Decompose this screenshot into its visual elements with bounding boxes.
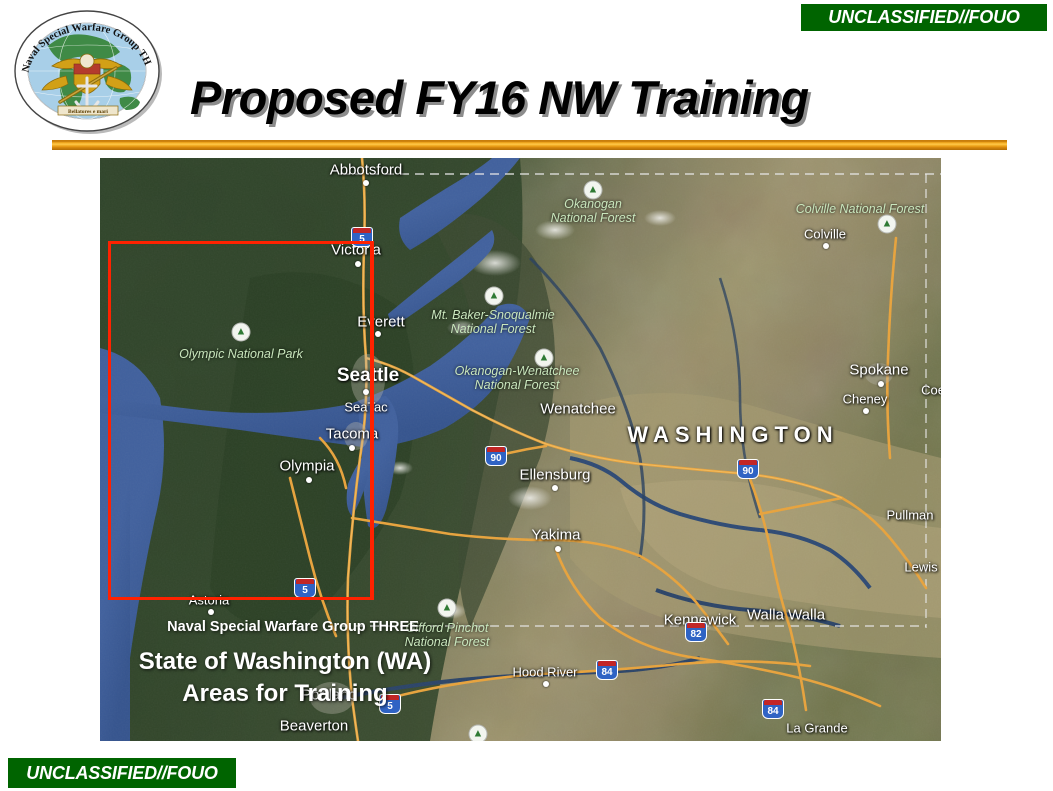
forest-pin-icon: ▲ [878, 215, 897, 234]
page-title: Proposed FY16 NW Training [190, 70, 910, 125]
forest-pin-icon: ▲ [485, 287, 504, 306]
city-dot [208, 609, 214, 615]
forest-pin-icon: ▲ [438, 599, 457, 618]
map-container[interactable]: ▲ OkanoganNational Forest ▲ Colville Nat… [100, 158, 941, 741]
highway-shield-icon: 90 [737, 459, 759, 479]
city-dot [375, 331, 381, 337]
city-dot [878, 381, 884, 387]
city-dot [823, 243, 829, 249]
highway-shield-icon: 82 [685, 622, 707, 642]
city-dot [363, 180, 369, 186]
naval-special-warfare-group-three-seal-icon: Bellatores e mari Naval Special Warfare … [8, 6, 168, 136]
svg-text:Bellatores e mari: Bellatores e mari [68, 109, 108, 115]
highway-shield-icon: 84 [596, 660, 618, 680]
classification-banner-top: UNCLASSIFIED//FOUO [801, 4, 1047, 31]
title-divider [52, 140, 1007, 150]
city-dot [863, 408, 869, 414]
area-of-interest-divider-line [371, 241, 374, 600]
map-overlay-title-line1: State of Washington (WA) [105, 648, 465, 676]
classification-banner-bottom: UNCLASSIFIED//FOUO [8, 758, 236, 788]
city-dot [543, 681, 549, 687]
forest-pin-icon: ▲ [535, 349, 554, 368]
unit-seal-logo: Bellatores e mari Naval Special Warfare … [8, 6, 168, 136]
map-overlay-unit-name: Naval Special Warfare Group THREE [143, 619, 443, 635]
city-dot [552, 485, 558, 491]
forest-pin-icon: ▲ [469, 725, 488, 742]
forest-pin-icon: ▲ [584, 181, 603, 200]
highway-shield-icon: 84 [762, 699, 784, 719]
highway-shield-icon: 90 [485, 446, 507, 466]
city-dot [555, 546, 561, 552]
area-of-interest-rectangle [108, 241, 373, 600]
map-overlay-title-line2: Areas for Training [105, 680, 465, 708]
